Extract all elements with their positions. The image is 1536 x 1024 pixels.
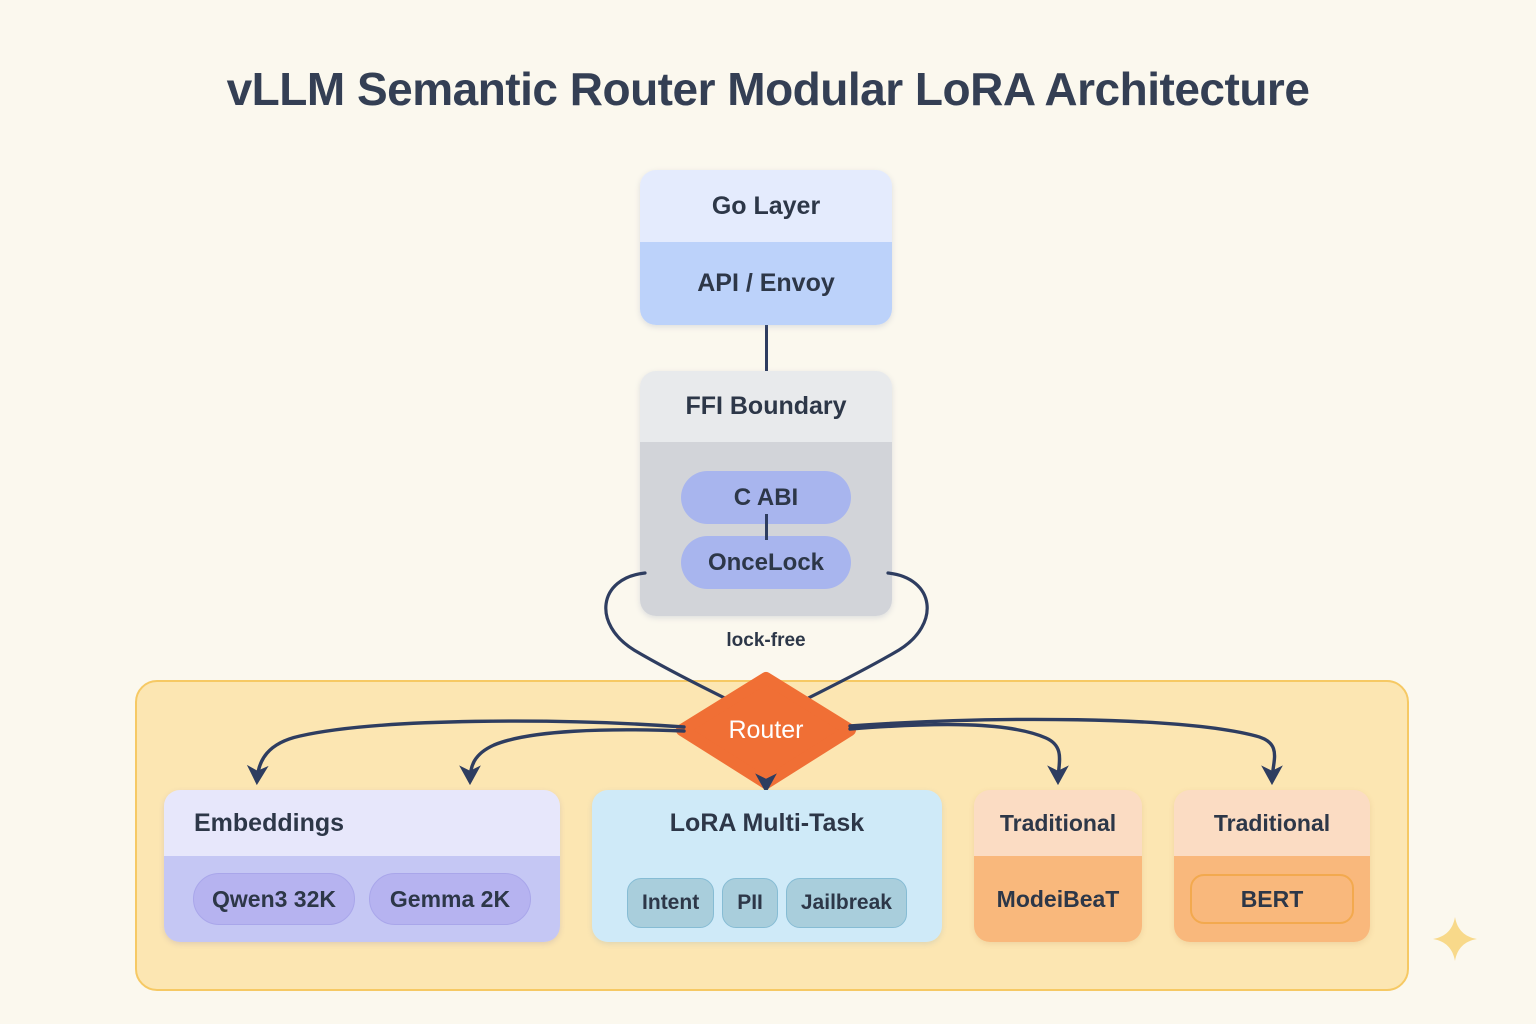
traditional-2-pill-bert[interactable]: BERT: [1190, 874, 1354, 924]
traditional-1-header: Traditional: [974, 790, 1142, 856]
embeddings-pill-qwen3[interactable]: Qwen3 32K: [193, 873, 355, 925]
embeddings-header: Embeddings: [164, 790, 560, 856]
traditional-1-body: ModeiBeaT: [974, 856, 1142, 942]
node-lora-multi-task[interactable]: LoRA Multi-Task Intent PII Jailbreak: [592, 790, 942, 942]
edge-c-abi-to-oncelock: [765, 514, 768, 540]
embeddings-body: Qwen3 32K Gemma 2K: [164, 856, 560, 942]
page-title: vLLM Semantic Router Modular LoRA Archit…: [0, 62, 1536, 116]
traditional-2-body: BERT: [1174, 856, 1370, 942]
edge-label-lock-free: lock-free: [640, 630, 892, 652]
node-embeddings[interactable]: Embeddings Qwen3 32K Gemma 2K: [164, 790, 560, 942]
go-layer-body: API / Envoy: [640, 242, 892, 325]
sparkle-icon: [1432, 916, 1478, 962]
edge-go-layer-to-ffi: [765, 325, 768, 371]
router-label: Router: [682, 678, 850, 783]
node-traditional-bert[interactable]: Traditional BERT: [1174, 790, 1370, 942]
node-traditional-modernbert[interactable]: Traditional ModeiBeaT: [974, 790, 1142, 942]
lora-pill-pii[interactable]: PII: [722, 878, 778, 928]
go-layer-header: Go Layer: [640, 170, 892, 242]
lora-body: Intent PII Jailbreak: [592, 856, 942, 942]
embeddings-pill-gemma[interactable]: Gemma 2K: [369, 873, 531, 925]
ffi-boundary-header: FFI Boundary: [640, 371, 892, 442]
traditional-2-header: Traditional: [1174, 790, 1370, 856]
lora-header: LoRA Multi-Task: [592, 790, 942, 856]
lora-pill-jailbreak[interactable]: Jailbreak: [786, 878, 907, 928]
node-ffi-boundary[interactable]: FFI Boundary C ABI OnceLock: [640, 371, 892, 616]
ffi-pill-oncelock[interactable]: OnceLock: [681, 536, 851, 589]
node-go-layer[interactable]: Go Layer API / Envoy: [640, 170, 892, 325]
lora-pill-intent[interactable]: Intent: [627, 878, 714, 928]
diagram-canvas: vLLM Semantic Router Modular LoRA Archit…: [0, 0, 1536, 1024]
